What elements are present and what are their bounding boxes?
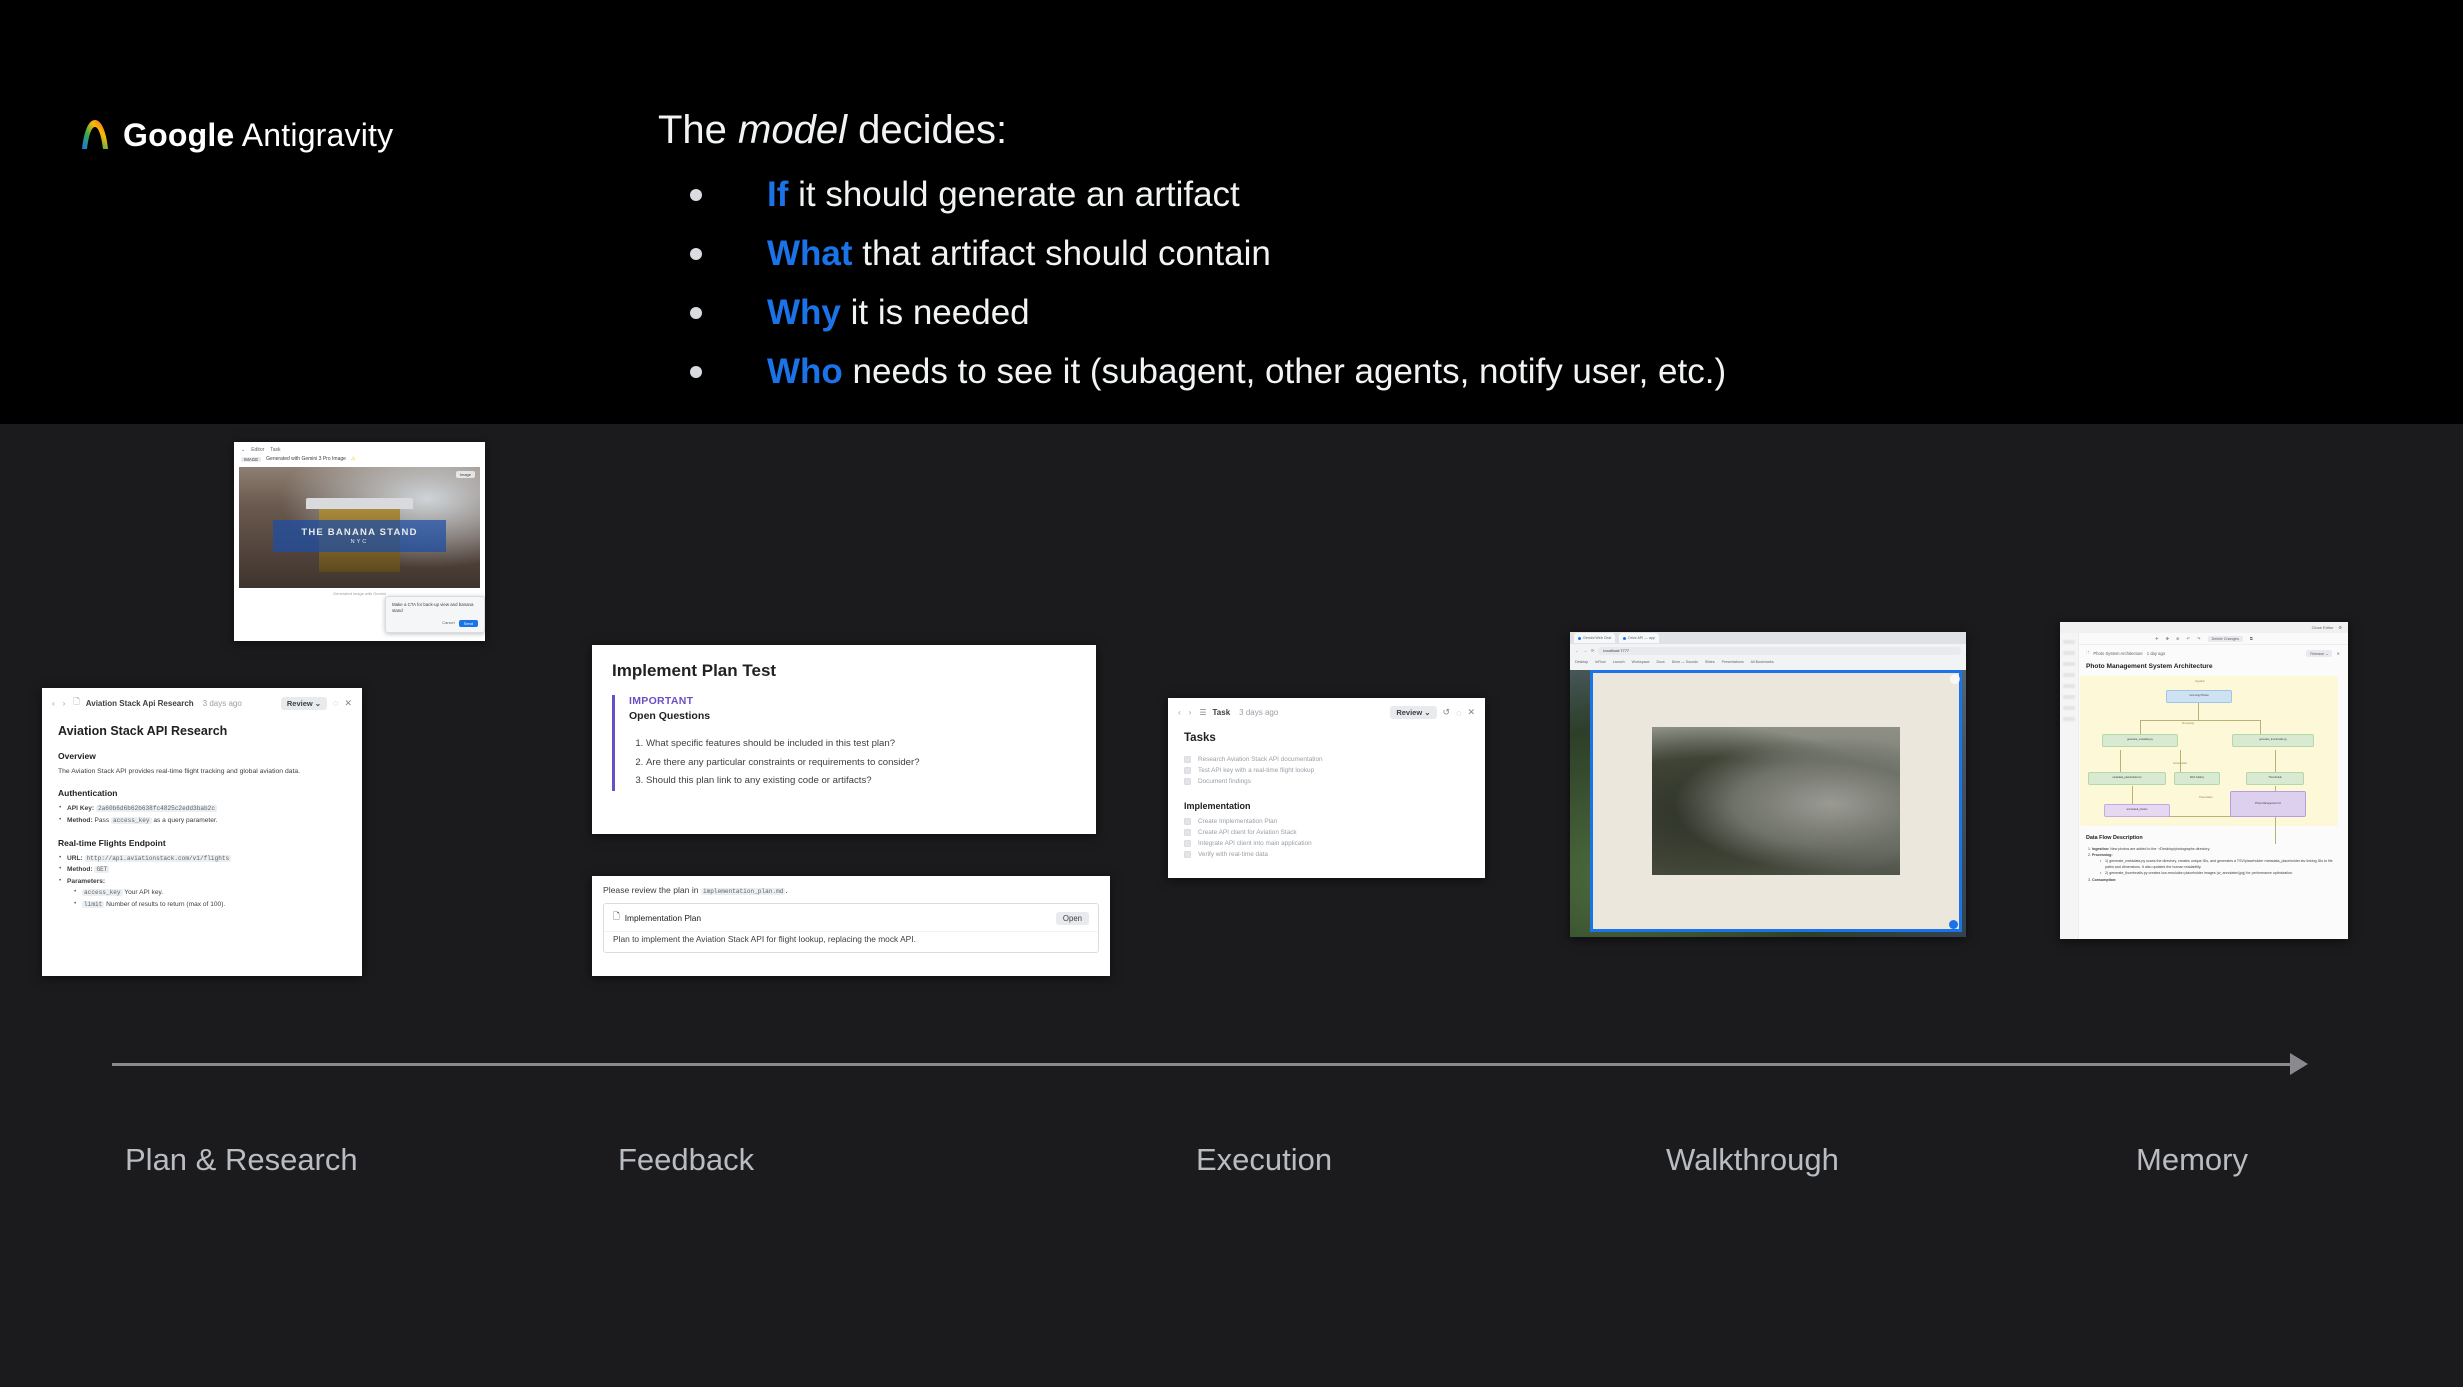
- endpoint-list: URL: http://api.aviationstack.com/v1/fli…: [58, 853, 346, 911]
- list-item: Consumption:: [2092, 877, 2338, 883]
- http-method: GET: [94, 866, 109, 873]
- open-button[interactable]: Open: [1056, 912, 1089, 925]
- warning-icon: ⚠: [351, 456, 355, 462]
- diagram-node[interactable]: generate_thumbnails.py: [2232, 734, 2314, 747]
- artifact-card-memory[interactable]: Close Editor ⚙ ✛ ✥ ⊕ ↶ ↷ Delete Changes …: [2060, 622, 2348, 939]
- diagram-edge: [2198, 702, 2199, 720]
- banana-card-meta-row: IMAGE Generated with Gemini 3 Pro Image …: [234, 455, 485, 467]
- forward-icon[interactable]: →: [1583, 648, 1587, 653]
- data-flow-heading: Data Flow Description: [2086, 835, 2340, 841]
- bookmark-item[interactable]: Presentations: [1722, 660, 1744, 664]
- diagram-node[interactable]: metadata_placeholder.tsv: [2088, 772, 2166, 785]
- browser-chrome: Gemini Web Chat Drive API — app ← → ⟳ lo…: [1570, 632, 1966, 670]
- close-editor-label[interactable]: Close Editor: [2312, 625, 2334, 630]
- browser-tab[interactable]: Gemini Web Chat: [1574, 633, 1615, 643]
- doc-toolbar: ‹ › 🗋 Aviation Stack Api Research 3 days…: [42, 688, 362, 716]
- image-chip: IMAGE: [241, 457, 261, 462]
- doc-timestamp: 3 days ago: [203, 699, 242, 708]
- bookmark-item[interactable]: Workspace: [1632, 660, 1650, 664]
- implementation-heading: Implementation: [1184, 801, 1469, 811]
- gear-icon[interactable]: ⚙: [2338, 625, 2342, 630]
- send-button[interactable]: Send: [459, 620, 478, 627]
- stage-label-feedback: Feedback: [618, 1142, 754, 1178]
- artifact-card-generated-image[interactable]: ⌄ Editor Task IMAGE Generated with Gemin…: [234, 442, 485, 641]
- artifact-card-tasks[interactable]: ‹ › ☰ Task 3 days ago Review ⌄ ↺ ◌ ✕ Tas…: [1168, 698, 1485, 878]
- important-callout: IMPORTANT Open Questions What specific f…: [612, 695, 1076, 791]
- artifact-card-review-plan[interactable]: Please review the plan in implementation…: [592, 876, 1110, 976]
- stage-label-execution: Execution: [1196, 1142, 1332, 1178]
- editor-tab-label[interactable]: Editor: [251, 447, 264, 453]
- recording-badge-icon: [1950, 674, 1960, 684]
- reload-icon[interactable]: ⟳: [1591, 648, 1594, 653]
- favicon-icon: [1623, 637, 1626, 640]
- attachment-description: Plan to implement the Aviation Stack API…: [604, 931, 1098, 952]
- zoom-icon[interactable]: ⊕: [2176, 636, 2180, 641]
- bookmark-item[interactable]: Desktop: [1575, 660, 1588, 664]
- timeline-arrow-icon: [2290, 1053, 2308, 1075]
- list-item[interactable]: Create API client for Aviation Stack: [1184, 829, 1469, 836]
- artifact-card-implement-plan-test[interactable]: Implement Plan Test IMPORTANT Open Quest…: [592, 645, 1096, 834]
- card-title: Implement Plan Test: [612, 661, 1076, 681]
- architecture-diagram[interactable]: Incoming Photos generate_metadata.py gen…: [2080, 676, 2338, 826]
- browser-tab-strip: Gemini Web Chat Drive API — app: [1570, 632, 1966, 644]
- image-badge: Image: [456, 471, 475, 478]
- list-item: Method: Pass access_key as a query param…: [58, 815, 346, 827]
- list-item: API Key: 2a60b6d6b62b638fc4825c2edd3bab2…: [58, 803, 346, 815]
- delete-changes-button[interactable]: Delete Changes: [2208, 636, 2243, 642]
- bookmark-item[interactable]: Slides: [1705, 660, 1715, 664]
- list-item[interactable]: Document findings: [1184, 778, 1469, 785]
- bullet-keyword: If: [767, 175, 788, 214]
- api-key-value: 2a60b6d6b62b638fc4825c2edd3bab2c: [96, 805, 217, 812]
- list-item: limit Number of results to return (max o…: [58, 899, 346, 911]
- diagram-node[interactable]: generate_metadata.py: [2102, 734, 2178, 747]
- cursor-icon[interactable]: ✛: [2155, 636, 2159, 641]
- artwork-image: [1652, 727, 1901, 875]
- slide-root: Google Antigravity The model decides: If…: [0, 0, 2463, 1387]
- diagram-node[interactable]: annotated_photos: [2104, 804, 2170, 817]
- list-item: Who needs to see it (subagent, other age…: [690, 342, 1726, 401]
- chevron-left-icon[interactable]: ‹: [52, 699, 57, 708]
- sign-line-1: THE BANANA STAND: [301, 527, 417, 538]
- checkbox[interactable]: [1184, 851, 1191, 858]
- bullet-dot-icon: [690, 248, 702, 260]
- chevron-right-icon[interactable]: ›: [63, 699, 68, 708]
- list-item: Why it is needed: [690, 283, 1726, 342]
- editor-topbar: Close Editor ⚙: [2060, 622, 2348, 633]
- bullet-keyword: Why: [767, 293, 841, 332]
- prompt-popup[interactable]: Make a CTA for back-up view and banana s…: [385, 596, 485, 633]
- back-icon[interactable]: ←: [1575, 648, 1579, 653]
- diagram-edge-label: Processing: [2168, 720, 2208, 728]
- pan-icon[interactable]: ✥: [2166, 636, 2170, 641]
- plan-attachment[interactable]: 🗋 Implementation Plan Open Plan to imple…: [603, 903, 1099, 953]
- important-label: IMPORTANT: [629, 695, 1076, 707]
- tasks-timestamp: 3 days ago: [1239, 708, 1278, 717]
- copy-icon[interactable]: ⧉: [2250, 636, 2253, 641]
- bullet-text: it should generate an artifact: [788, 175, 1239, 214]
- list-icon: ☰: [1199, 708, 1206, 717]
- data-flow-sublist: 1) generate_metadata.py scans the direct…: [2100, 858, 2338, 876]
- bullet-keyword: Who: [767, 352, 843, 391]
- artifact-card-aviation-research[interactable]: ‹ › 🗋 Aviation Stack Api Research 3 days…: [42, 688, 362, 976]
- redo-icon[interactable]: ↷: [2197, 636, 2201, 641]
- image-caption: Generated image with Gemini: [234, 588, 485, 596]
- diagram-node[interactable]: Thumbnails: [2246, 772, 2304, 785]
- review-dropdown[interactable]: Review ⌄: [281, 697, 327, 710]
- list-item: What specific features should be include…: [646, 735, 1076, 754]
- bullet-text: needs to see it (subagent, other agents,…: [843, 352, 1726, 391]
- list-item: If it should generate an artifact: [690, 165, 1726, 224]
- sign-line-2: NYC: [351, 539, 369, 545]
- diagram-edge-label: Presentation: [2184, 794, 2228, 802]
- diagram-toolbar: ✛ ✥ ⊕ ↶ ↷ Delete Changes ⧉: [2060, 633, 2348, 645]
- list-item: What that artifact should contain: [690, 224, 1726, 283]
- attachment-title: Implementation Plan: [625, 913, 701, 923]
- architecture-heading: Photo Management System Architecture: [2086, 663, 2340, 670]
- release-dropdown[interactable]: Release ⌄: [2306, 650, 2332, 657]
- list-item: access_key Your API key.: [58, 887, 346, 899]
- diagram-edge: [2132, 786, 2133, 804]
- page-title: The model decides:: [658, 108, 1007, 152]
- bullet-dot-icon: [690, 307, 702, 319]
- list-item[interactable]: Integrate API client into main applicati…: [1184, 840, 1469, 847]
- generated-with-label: Generated with Gemini 3 Pro Image: [266, 456, 346, 462]
- brand-google: Google: [123, 117, 234, 153]
- close-icon[interactable]: ✕: [2336, 651, 2340, 656]
- bookmark-item[interactable]: Launch: [1613, 660, 1625, 664]
- checkbox[interactable]: [1184, 756, 1191, 763]
- prompt-text: Make a CTA for back-up view and banana s…: [392, 602, 478, 615]
- bullet-text: it is needed: [841, 293, 1030, 332]
- comment-icon[interactable]: ◌: [333, 698, 338, 708]
- list-item: Are there any particular constraints or …: [646, 754, 1076, 773]
- brand-name: Google Antigravity: [123, 119, 393, 151]
- doc-title: Photo System Architecture: [2093, 651, 2142, 656]
- doc-title: Aviation Stack Api Research: [86, 699, 194, 708]
- memory-doc-toolbar: 🗋 Photo System Architecture 1 day ago Re…: [2060, 645, 2348, 660]
- list-item[interactable]: Research Aviation Stack API documentatio…: [1184, 756, 1469, 763]
- list-item: URL: http://api.aviationstack.com/v1/fli…: [58, 853, 346, 865]
- file-icon: 🗋: [613, 911, 620, 925]
- diagram-node[interactable]: Web Gallery: [2174, 772, 2220, 785]
- chevron-left-icon[interactable]: ‹: [1178, 708, 1183, 717]
- brand-lockup: Google Antigravity: [80, 118, 393, 152]
- list-item: 1) generate_metadata.py scans the direct…: [2100, 858, 2338, 870]
- diagram-node[interactable]: Photo Management UI: [2230, 791, 2306, 817]
- doc-heading: Aviation Stack API Research: [58, 724, 346, 738]
- diagram-edge: [2275, 750, 2276, 772]
- bullet-dot-icon: [690, 189, 702, 201]
- headline-emphasis: model: [738, 108, 847, 152]
- review-dropdown[interactable]: Review ⌄: [1390, 706, 1436, 719]
- browser-tab[interactable]: Drive API — app: [1619, 633, 1659, 643]
- timeline-axis: [112, 1063, 2304, 1066]
- banana-card-tabs-row: ⌄ Editor Task: [234, 442, 485, 455]
- generated-image[interactable]: THE BANANA STAND NYC Image: [239, 467, 480, 588]
- access-key-code: access_key: [111, 817, 152, 824]
- tasks-heading: Tasks: [1184, 732, 1469, 744]
- data-flow-list: Ingestion: New photos are added to the ~…: [2092, 846, 2338, 883]
- tasks-title: Task: [1213, 708, 1231, 717]
- awning-shape: [306, 498, 412, 509]
- close-icon[interactable]: ✕: [1467, 707, 1475, 718]
- stage-label-memory: Memory: [2136, 1142, 2248, 1178]
- brand-product: Antigravity: [242, 117, 394, 153]
- bookmark-item[interactable]: All Bookmarks: [1751, 660, 1774, 664]
- list-item: Should this plan link to any existing co…: [646, 772, 1076, 791]
- stage-label-plan-research: Plan & Research: [125, 1142, 358, 1178]
- history-icon[interactable]: ↺: [1443, 707, 1451, 718]
- bookmark-item[interactable]: Drive — Sounds: [1672, 660, 1698, 664]
- favicon-icon: [1578, 637, 1581, 640]
- headline-prefix: The: [658, 108, 738, 152]
- open-questions-label: Open Questions: [629, 710, 1076, 722]
- tasks-toolbar: ‹ › ☰ Task 3 days ago Review ⌄ ↺ ◌ ✕: [1168, 698, 1485, 725]
- cancel-button[interactable]: Cancel: [442, 620, 454, 627]
- slide-header: Google Antigravity The model decides: If…: [0, 0, 2463, 424]
- bullet-dot-icon: [690, 366, 702, 378]
- bullet-keyword: What: [767, 234, 853, 273]
- diagram-node[interactable]: Incoming Photos: [2166, 690, 2232, 703]
- antigravity-logo-icon: [80, 118, 110, 152]
- checkbox[interactable]: [1184, 818, 1191, 825]
- task-tab-label[interactable]: Task: [270, 447, 280, 453]
- undo-icon[interactable]: ↶: [2187, 636, 2191, 641]
- page-viewport-selection[interactable]: [1590, 670, 1962, 932]
- bookmark-item[interactable]: Docs: [1657, 660, 1665, 664]
- bookmarks-bar: Desktop InFlow Launch Workspace Docs Dri…: [1570, 657, 1966, 667]
- review-prompt: Please review the plan in implementation…: [603, 885, 1099, 895]
- chevron-icon: ⌄: [241, 447, 245, 453]
- file-icon: 🗋: [73, 696, 79, 710]
- list-item[interactable]: Verify with real-time data: [1184, 851, 1469, 858]
- overview-heading: Overview: [58, 751, 346, 761]
- file-icon: 🗋: [2086, 650, 2089, 657]
- authentication-heading: Authentication: [58, 788, 346, 798]
- cursor-dot-icon: [1949, 920, 1958, 929]
- comment-icon[interactable]: ◌: [1456, 708, 1461, 718]
- checkbox[interactable]: [1184, 778, 1191, 785]
- browser-omnibox-row: ← → ⟳ localhost:7777: [1570, 644, 1966, 657]
- endpoint-heading: Real-time Flights Endpoint: [58, 838, 346, 848]
- artifact-card-walkthrough[interactable]: Gemini Web Chat Drive API — app ← → ⟳ lo…: [1570, 632, 1966, 937]
- plan-filename: implementation_plan.md: [701, 888, 785, 895]
- close-icon[interactable]: ✕: [344, 698, 352, 709]
- image-sign-overlay: THE BANANA STAND NYC: [273, 520, 447, 551]
- bookmark-item[interactable]: InFlow: [1595, 660, 1606, 664]
- list-item[interactable]: Test API key with a real-time flight loo…: [1184, 767, 1469, 774]
- list-item: Parameters:: [58, 876, 346, 888]
- overview-paragraph: The Aviation Stack API provides real-tim…: [58, 766, 346, 777]
- checkbox[interactable]: [1184, 840, 1191, 847]
- list-item[interactable]: Create Implementation Plan: [1184, 818, 1469, 825]
- diagram-edge-label: Ingestion: [2180, 678, 2220, 686]
- bullet-list: If it should generate an artifact What t…: [690, 165, 1726, 401]
- url-input[interactable]: localhost:7777: [1598, 647, 1961, 655]
- endpoint-url: http://api.aviationstack.com/v1/flights: [85, 855, 232, 862]
- doc-timestamp: 1 day ago: [2147, 651, 2165, 656]
- diagram-edge: [2120, 750, 2121, 772]
- bullet-text: that artifact should contain: [853, 234, 1271, 273]
- open-questions-list: What specific features should be include…: [646, 735, 1076, 791]
- list-item: Processing: 1) generate_metadata.py scan…: [2092, 852, 2338, 876]
- headline-suffix: decides:: [847, 108, 1007, 152]
- list-item: Method: GET: [58, 864, 346, 876]
- chevron-right-icon[interactable]: ›: [1189, 708, 1194, 717]
- stage-label-walkthrough: Walkthrough: [1666, 1142, 1839, 1178]
- diagram-edge-label: Consumption: [2158, 760, 2202, 768]
- file-explorer-rail: [2060, 633, 2079, 939]
- checkbox[interactable]: [1184, 767, 1191, 774]
- checkbox[interactable]: [1184, 829, 1191, 836]
- authentication-list: API Key: 2a60b6d6b62b638fc4825c2edd3bab2…: [58, 803, 346, 826]
